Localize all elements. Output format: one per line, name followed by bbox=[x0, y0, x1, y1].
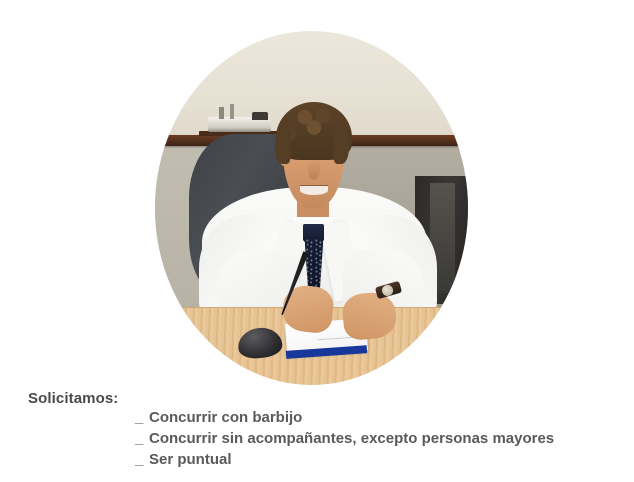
list-item: _Concurrir con barbijo bbox=[135, 407, 554, 428]
bullet-marker: _ bbox=[135, 407, 149, 428]
doctor-portrait-photo bbox=[155, 31, 468, 385]
bullet-marker: _ bbox=[135, 428, 149, 449]
list-item-label: Concurrir con barbijo bbox=[149, 409, 302, 426]
hair-side-right bbox=[333, 128, 349, 163]
hair-side-left bbox=[275, 128, 291, 163]
nose bbox=[308, 158, 319, 179]
list-item-label: Ser puntual bbox=[149, 451, 232, 468]
bullet-marker: _ bbox=[135, 449, 149, 470]
photo-scene bbox=[155, 31, 468, 385]
list-item-label: Concurrir sin acompañantes, excepto pers… bbox=[149, 430, 554, 447]
requirements-heading: Solicitamos: bbox=[28, 390, 118, 407]
smiling-mouth bbox=[300, 185, 328, 194]
list-item: _Ser puntual bbox=[135, 449, 554, 470]
shelf-model-mast-b bbox=[230, 104, 234, 119]
shelf-model-cabin bbox=[252, 112, 268, 120]
requirements-list: _Concurrir con barbijo _Concurrir sin ac… bbox=[135, 407, 554, 470]
shelf-model-mast-a bbox=[219, 107, 223, 119]
list-item: _Concurrir sin acompañantes, excepto per… bbox=[135, 428, 554, 449]
